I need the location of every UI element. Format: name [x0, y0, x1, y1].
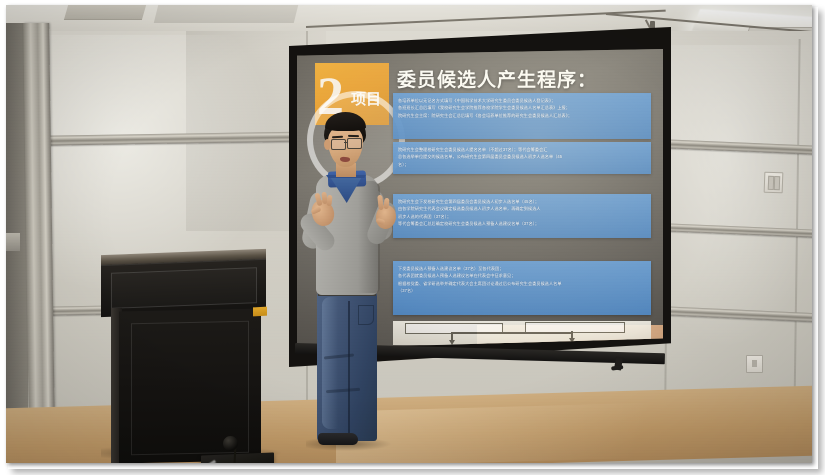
glasses-lens	[347, 138, 362, 149]
presenter-mouth	[340, 157, 350, 163]
jeans-highlight	[322, 297, 342, 429]
glasses-lens	[331, 139, 346, 150]
presenter-hair-fringe	[325, 112, 366, 131]
jeans-pocket	[358, 305, 374, 325]
glasses-bridge	[344, 142, 348, 143]
eyebrow	[348, 135, 359, 137]
presenter	[6, 5, 812, 463]
presenter-ear	[324, 139, 331, 150]
jeans-seam	[348, 301, 350, 435]
photograph: 2 项目 委员候选人产生程序： 各培养单位以无记名方式填写《中国科学技术大学研究…	[6, 5, 812, 463]
photo-frame: 2 项目 委员候选人产生程序： 各培养单位以无记名方式填写《中国科学技术大学研究…	[0, 0, 825, 475]
presenter-shoe	[318, 433, 358, 445]
